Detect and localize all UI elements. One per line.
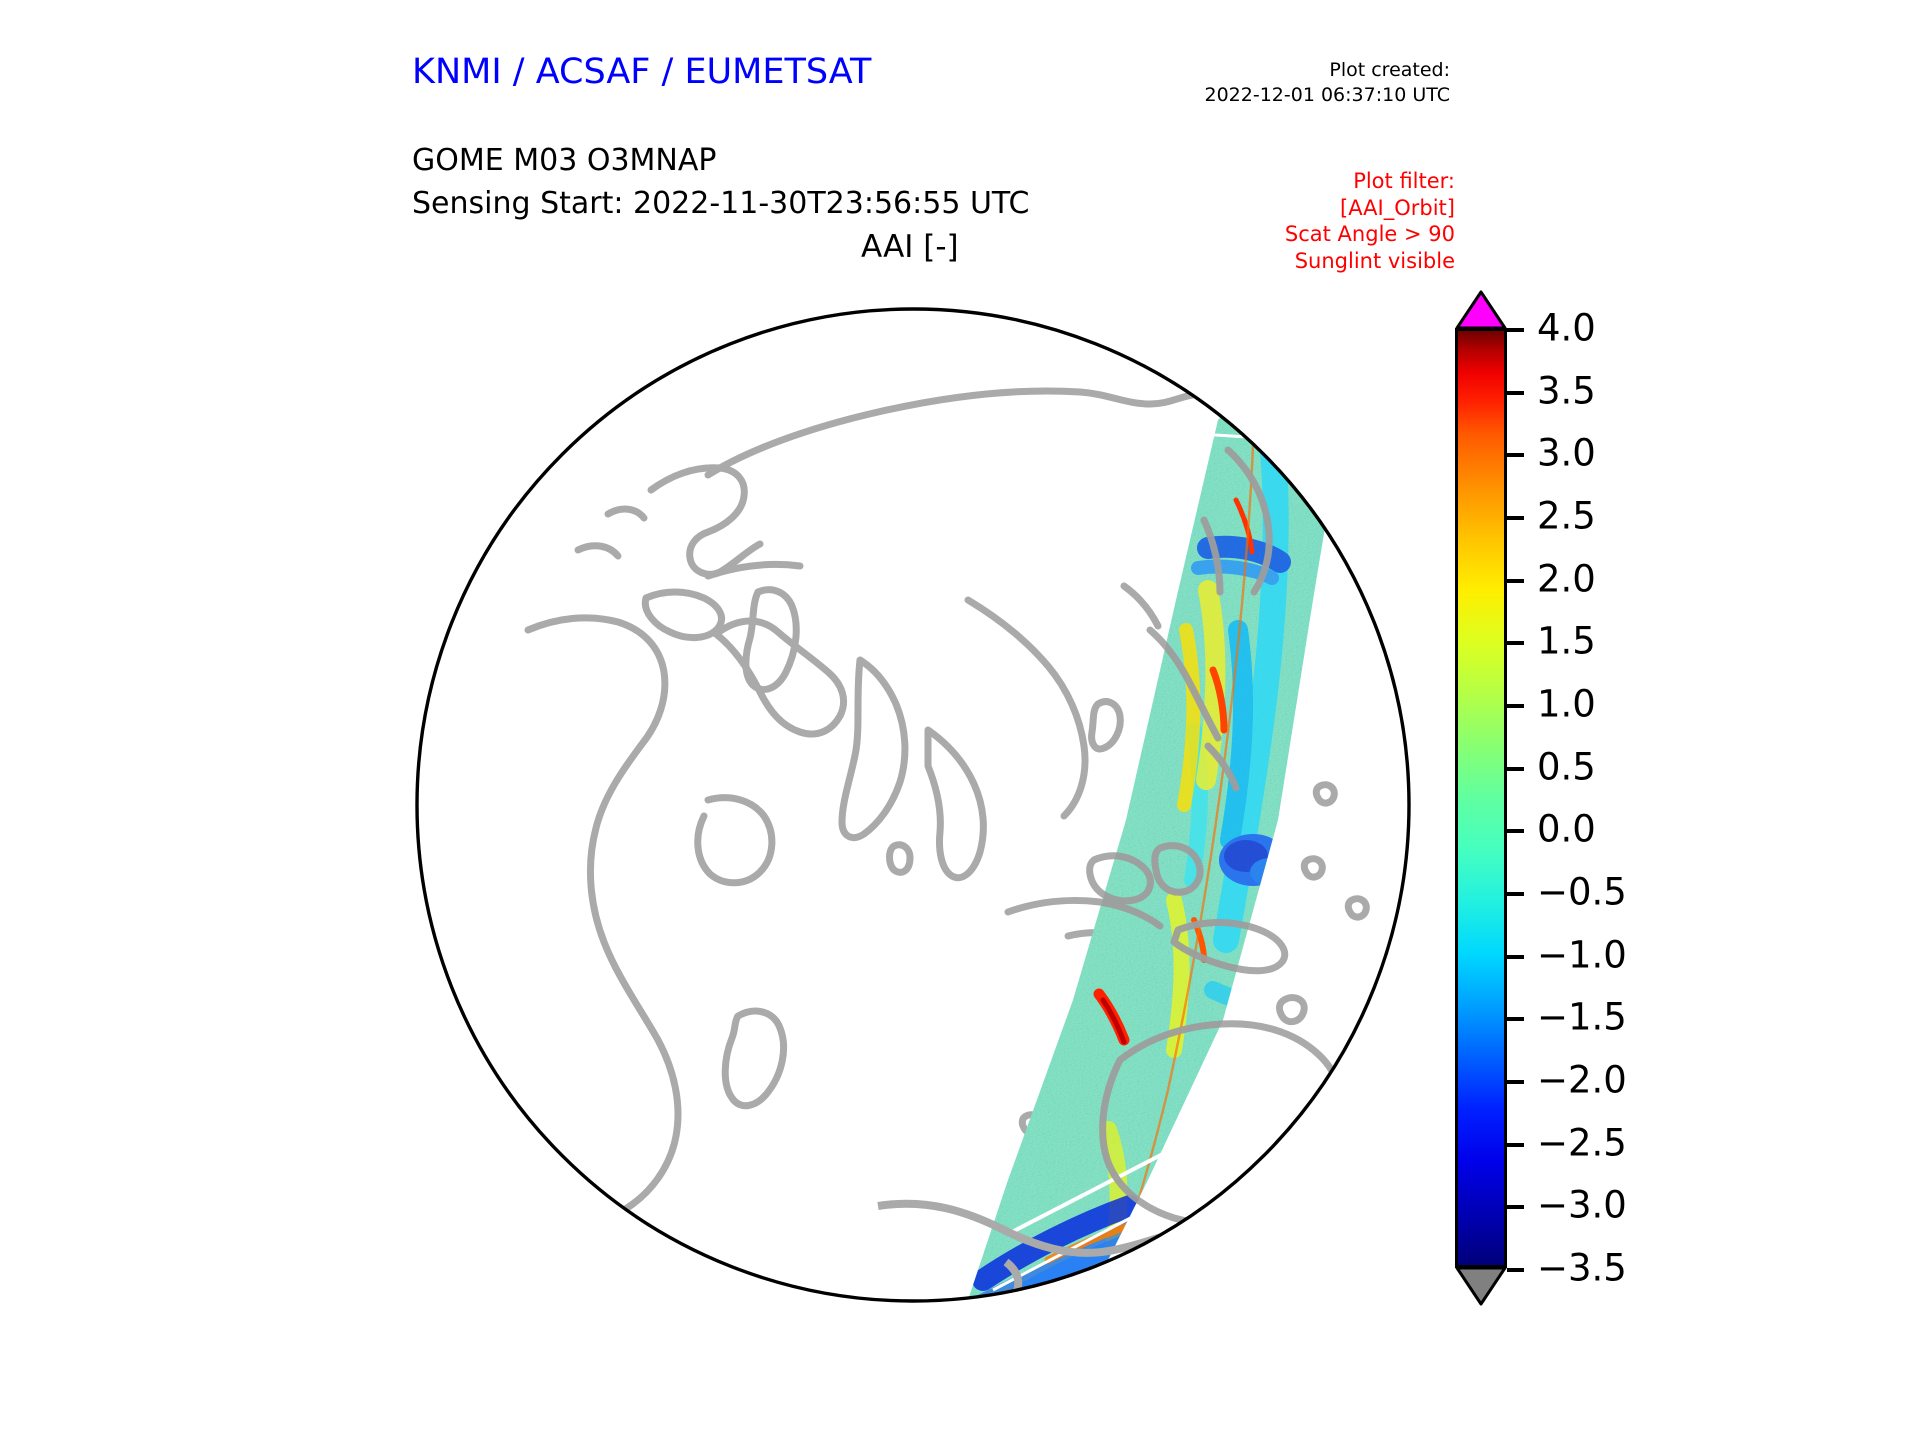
colorbar-tick-label: 1.5 <box>1537 623 1596 660</box>
colorbar-tick <box>1507 516 1524 520</box>
colorbar-tick <box>1507 1017 1524 1021</box>
colorbar-tick-label: 0.0 <box>1537 811 1596 848</box>
plot-created-block: Plot created: 2022-12-01 06:37:10 UTC <box>1205 58 1451 108</box>
organisation-title: KNMI / ACSAF / EUMETSAT <box>412 52 871 92</box>
colorbar-tick-label: −0.5 <box>1537 874 1627 911</box>
colorbar-tick-label: −1.0 <box>1537 936 1627 973</box>
product-name: GOME M03 O3MNAP <box>412 139 1029 182</box>
plot-filter-block: Plot filter: [AAI_Orbit] Scat Angle > 90… <box>1285 168 1455 274</box>
colorbar-tick-label: 0.5 <box>1537 748 1596 785</box>
plot-created-label: Plot created: <box>1205 58 1451 83</box>
colorbar-under-range-arrow <box>1455 1266 1507 1306</box>
colorbar-tick <box>1507 1268 1524 1272</box>
colorbar-tick-label: 2.0 <box>1537 560 1596 597</box>
colorbar-tick <box>1507 641 1524 645</box>
colorbar-gradient <box>1455 328 1507 1268</box>
globe-canvas <box>408 300 1418 1310</box>
colorbar-tick <box>1507 829 1524 833</box>
colorbar-tick <box>1507 453 1524 457</box>
plot-filter-sunglint: Sunglint visible <box>1285 248 1455 275</box>
colorbar-tick <box>1507 1143 1524 1147</box>
colorbar-tick <box>1507 767 1524 771</box>
colorbar-over-range-arrow <box>1455 290 1507 330</box>
colorbar-tick <box>1507 1205 1524 1209</box>
colorbar-tick-label: −1.5 <box>1537 999 1627 1036</box>
plot-page: KNMI / ACSAF / EUMETSAT Plot created: 20… <box>0 0 1920 1440</box>
colorbar-tick-label: −3.0 <box>1537 1187 1627 1224</box>
colorbar-tick <box>1507 579 1524 583</box>
colorbar-tick <box>1507 704 1524 708</box>
colorbar-tick-label: −2.5 <box>1537 1124 1627 1161</box>
colorbar-tick-label: −2.0 <box>1537 1062 1627 1099</box>
plot-filter-title: Plot filter: <box>1285 168 1455 195</box>
colorbar-tick-label: 4.0 <box>1537 310 1596 347</box>
colorbar-tick-label: 3.0 <box>1537 435 1596 472</box>
colorbar-tick <box>1507 892 1524 896</box>
colorbar-tick <box>1507 1080 1524 1084</box>
map-globe <box>408 300 1418 1310</box>
colorbar-tick <box>1507 955 1524 959</box>
plot-created-value: 2022-12-01 06:37:10 UTC <box>1205 83 1451 108</box>
colorbar-tick <box>1507 328 1524 332</box>
colorbar-tick <box>1507 391 1524 395</box>
plot-filter-name: [AAI_Orbit] <box>1285 195 1455 222</box>
page-title: AAI [-] <box>861 229 959 265</box>
plot-filter-scat-angle: Scat Angle > 90 <box>1285 221 1455 248</box>
colorbar-tick-label: −3.5 <box>1537 1250 1627 1287</box>
colorbar: 4.03.53.02.52.01.51.00.50.0−0.5−1.0−1.5−… <box>1455 290 1507 1280</box>
colorbar-tick-label: 3.5 <box>1537 372 1596 409</box>
product-block: GOME M03 O3MNAP Sensing Start: 2022-11-3… <box>412 139 1029 225</box>
sensing-start: Sensing Start: 2022-11-30T23:56:55 UTC <box>412 182 1029 225</box>
colorbar-tick-label: 1.0 <box>1537 686 1596 723</box>
colorbar-tick-label: 2.5 <box>1537 498 1596 535</box>
